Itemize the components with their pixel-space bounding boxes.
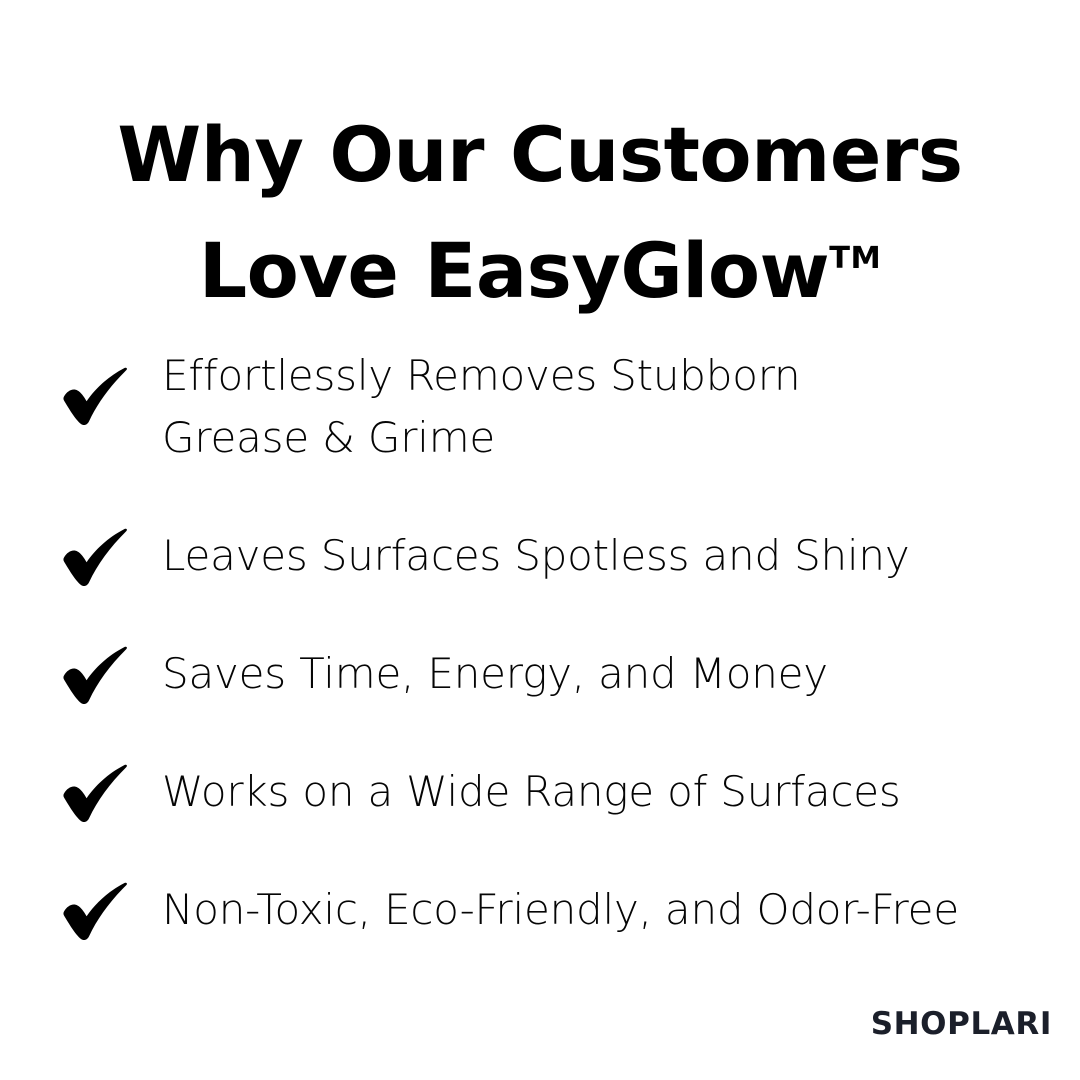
brand-logo: SHOPLARI bbox=[871, 1009, 1052, 1040]
check-mark-icon bbox=[62, 525, 162, 587]
page-title: Why Our Customers Love EasyGlowTM bbox=[0, 103, 1080, 323]
benefit-text: Leaves Surfaces Spotless and Shiny bbox=[162, 525, 1042, 587]
list-item: Leaves Surfaces Spotless and Shiny bbox=[62, 525, 1042, 587]
headline-line-1: Why Our Customers bbox=[0, 103, 1080, 207]
benefit-text: Effortlessly Removes Stubborn Grease & G… bbox=[162, 345, 1042, 469]
check-mark-icon bbox=[62, 761, 162, 823]
benefits-list: Effortlessly Removes Stubborn Grease & G… bbox=[62, 345, 1042, 941]
benefit-text: Saves Time, Energy, and Money bbox=[162, 643, 1042, 705]
list-item: Effortlessly Removes Stubborn Grease & G… bbox=[62, 345, 1042, 469]
list-item: Saves Time, Energy, and Money bbox=[62, 643, 1042, 705]
check-mark-icon bbox=[62, 879, 162, 941]
check-mark-icon bbox=[62, 345, 162, 407]
list-item: Non-Toxic, Eco-Friendly, and Odor-Free bbox=[62, 879, 1042, 941]
benefit-text: Works on a Wide Range of Surfaces bbox=[162, 761, 1042, 823]
promo-card: Why Our Customers Love EasyGlowTM Effort… bbox=[0, 0, 1080, 1080]
benefit-text: Non-Toxic, Eco-Friendly, and Odor-Free bbox=[162, 879, 1042, 941]
headline-line-2: Love EasyGlowTM bbox=[0, 207, 1080, 323]
headline-line-2-text: Love EasyGlow bbox=[199, 226, 830, 315]
list-item: Works on a Wide Range of Surfaces bbox=[62, 761, 1042, 823]
trademark-symbol: TM bbox=[829, 241, 881, 276]
check-mark-icon bbox=[62, 643, 162, 705]
